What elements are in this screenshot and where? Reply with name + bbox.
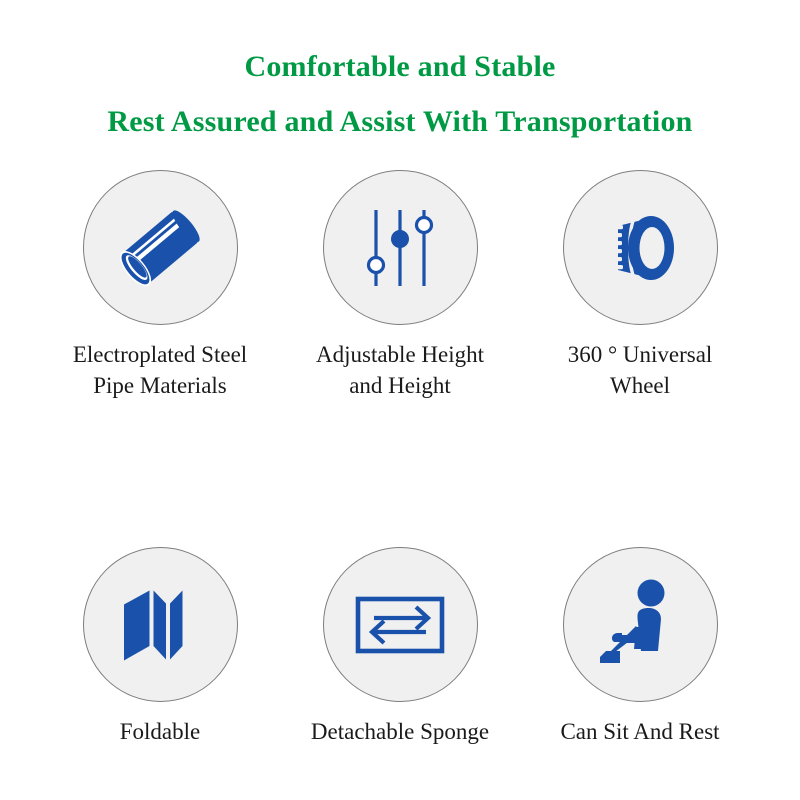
folded-map-icon xyxy=(112,577,208,673)
caption-line-1: Detachable Sponge xyxy=(280,716,520,747)
feature-caption: 360 ° Universal Wheel xyxy=(520,339,760,401)
caption-line-2: Pipe Materials xyxy=(40,370,280,401)
feature-infographic: Comfortable and Stable Rest Assured and … xyxy=(0,0,800,800)
seated-person-icon xyxy=(590,575,690,675)
caption-line-1: Foldable xyxy=(40,716,280,747)
caption-line-1: Adjustable Height xyxy=(280,339,520,370)
feature-row-1: Electroplated Steel Pipe Materials xyxy=(0,170,800,401)
caption-line-2: and Height xyxy=(280,370,520,401)
feature-icon-badge xyxy=(83,547,238,702)
double-arrow-rectangle-icon xyxy=(350,575,450,675)
feature-item-adjustable-height: Adjustable Height and Height xyxy=(280,170,520,401)
feature-caption: Electroplated Steel Pipe Materials xyxy=(40,339,280,401)
feature-icon-badge xyxy=(563,170,718,325)
feature-item-can-sit-and-rest: Can Sit And Rest xyxy=(520,547,760,747)
feature-caption: Can Sit And Rest xyxy=(520,716,760,747)
feature-icon-badge xyxy=(323,547,478,702)
feature-icon-badge xyxy=(563,547,718,702)
feature-icon-badge xyxy=(83,170,238,325)
feature-caption: Foldable xyxy=(40,716,280,747)
heading-block: Comfortable and Stable Rest Assured and … xyxy=(0,46,800,143)
feature-item-steel-pipe: Electroplated Steel Pipe Materials xyxy=(40,170,280,401)
feature-item-detachable-sponge: Detachable Sponge xyxy=(280,547,520,747)
feature-icon-badge xyxy=(323,170,478,325)
wheel-tire-icon xyxy=(588,196,692,300)
feature-grid: Electroplated Steel Pipe Materials xyxy=(0,170,800,747)
steel-pipe-icon xyxy=(108,196,212,300)
caption-line-2: Wheel xyxy=(520,370,760,401)
heading-primary: Comfortable and Stable xyxy=(0,46,800,88)
heading-secondary: Rest Assured and Assist With Transportat… xyxy=(0,101,800,143)
feature-caption: Detachable Sponge xyxy=(280,716,520,747)
caption-line-1: Electroplated Steel xyxy=(40,339,280,370)
feature-caption: Adjustable Height and Height xyxy=(280,339,520,401)
feature-item-universal-wheel: 360 ° Universal Wheel xyxy=(520,170,760,401)
feature-item-foldable: Foldable xyxy=(40,547,280,747)
caption-line-1: 360 ° Universal xyxy=(520,339,760,370)
feature-row-2: Foldable De xyxy=(0,547,800,747)
slider-adjust-icon xyxy=(352,200,448,296)
caption-line-1: Can Sit And Rest xyxy=(520,716,760,747)
